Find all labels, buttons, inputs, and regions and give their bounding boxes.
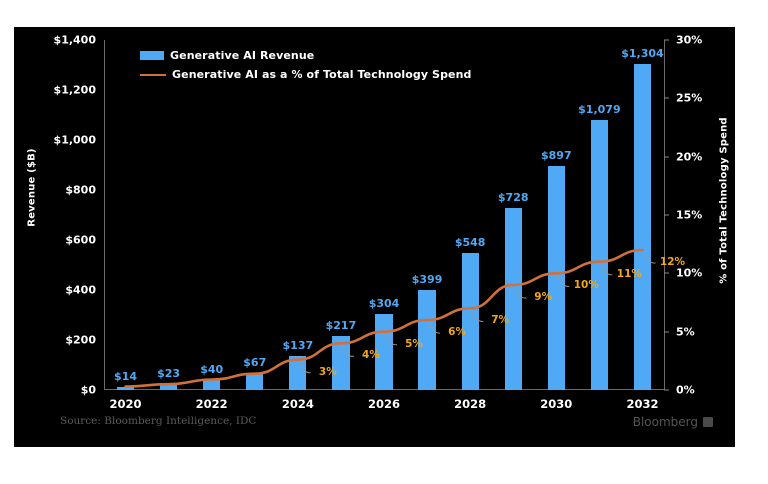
x-axis-tick-label: 2028 [454,397,486,411]
y-axis-right-tick-label: 20% [676,150,702,163]
bar-value-label: $399 [412,273,443,286]
line-value-label: 11% [617,268,642,280]
y-axis-right-tick-mark [664,331,669,332]
line-value-label: 4% [362,349,380,361]
y-axis-left-tick-label: $0 [81,384,96,397]
y-axis-right-tick-mark [664,390,669,391]
bar[interactable] [246,373,263,390]
y-axis-right-tick-mark [664,40,669,41]
bar[interactable] [591,120,608,390]
bar-value-label: $1,079 [578,103,620,116]
y-axis-right-tick-label: 30% [676,34,702,47]
bar[interactable] [160,384,177,390]
y-axis-left-title: Revenue ($B) [27,128,38,248]
x-axis-tick-label: 2024 [282,397,314,411]
y-axis-left-tick-label: $200 [65,334,96,347]
bar[interactable] [289,356,306,390]
y-axis-left-tick-label: $1,200 [54,84,96,97]
bar-value-label: $897 [541,149,572,162]
bar-value-label: $548 [455,236,486,249]
y-axis-left-tick-label: $400 [65,284,96,297]
line-value-label: 12% [660,256,685,268]
y-axis-right-tick-label: 5% [676,325,695,338]
bar-value-label: $14 [114,370,137,383]
y-axis-right-title: % of Total Technology Spend [719,96,730,306]
x-axis-tick-label: 2030 [540,397,572,411]
line-value-label: 9% [534,291,552,303]
y-axis-right-tick-mark [664,98,669,99]
x-axis-tick-label: 2020 [110,397,142,411]
y-axis-left-tick-label: $800 [65,184,96,197]
y-axis-right-tick-mark [664,156,669,157]
line-value-label: 3% [319,366,337,378]
y-axis-right-tick-mark [664,215,669,216]
y-axis-right-tick-label: 15% [676,209,702,222]
line-value-label: 6% [448,326,466,338]
brand-mark-group: Bloomberg [633,415,713,429]
bar[interactable] [203,380,220,390]
line-value-label: 7% [491,314,509,326]
brand-name: Bloomberg [633,415,698,429]
bar[interactable] [505,208,522,390]
line-value-label: 10% [574,279,599,291]
bar-value-label: $67 [243,356,266,369]
bar[interactable] [462,253,479,390]
chart-page: Revenue ($B) % of Total Technology Spend… [0,0,768,484]
bar[interactable] [332,336,349,390]
bar-value-label: $23 [157,367,180,380]
bar-value-label: $217 [326,319,357,332]
source-note: Source: Bloomberg Intelligence, IDC [60,415,256,427]
y-axis-right-tick-label: 10% [676,267,702,280]
bar-value-label: $728 [498,191,529,204]
x-axis-tick-label: 2022 [196,397,228,411]
y-axis-right-tick-label: 25% [676,92,702,105]
x-axis-tick-label: 2032 [626,397,658,411]
bar-value-label: $137 [283,339,314,352]
bar[interactable] [634,64,651,390]
y-axis-right-tick-mark [664,273,669,274]
x-axis-tick-label: 2026 [368,397,400,411]
bar-value-label: $1,304 [621,47,663,60]
bar-value-label: $304 [369,297,400,310]
y-axis-left-tick-label: $1,400 [54,34,96,47]
bar[interactable] [117,387,134,391]
bloomberg-logo-icon [703,417,713,427]
chart-panel: Revenue ($B) % of Total Technology Spend… [14,27,735,447]
y-axis-left-tick-label: $600 [65,234,96,247]
plot-area: $0$200$400$600$800$1,000$1,200$1,400 0%5… [104,40,664,390]
y-axis-left-tick-label: $1,000 [54,134,96,147]
y-axis-right-tick-label: 0% [676,384,695,397]
bar[interactable] [548,166,565,390]
line-value-label: 5% [405,338,423,350]
bar-value-label: $40 [200,363,223,376]
